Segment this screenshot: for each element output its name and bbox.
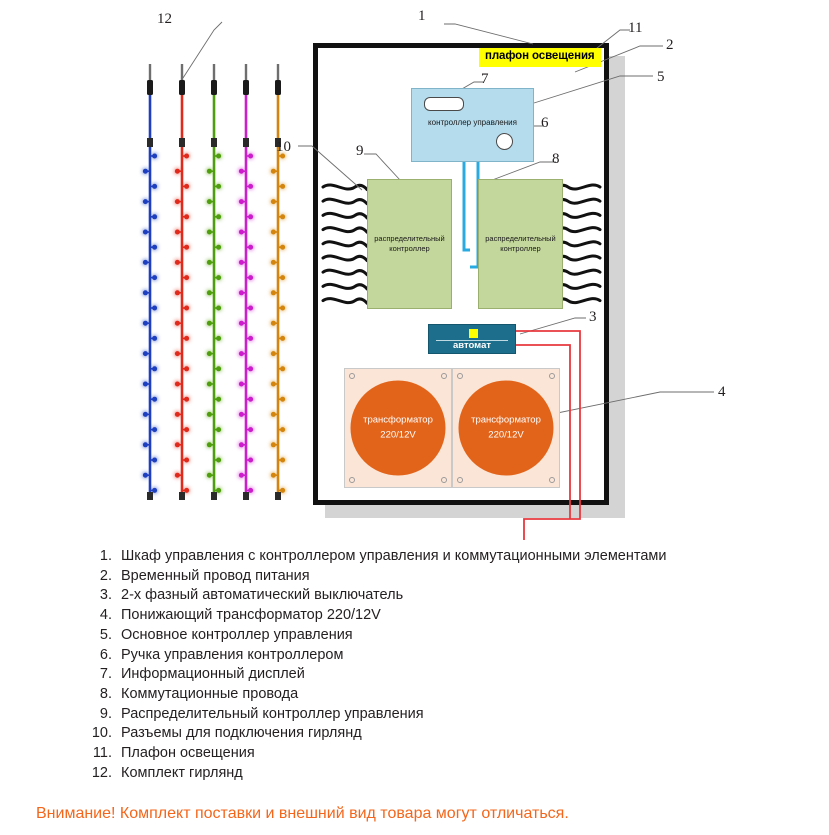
legend-item-text: Распределительный контроллер управления (121, 707, 424, 722)
callout-5: 5 (657, 70, 665, 85)
callout-7: 7 (481, 72, 489, 87)
wiring-diagram: плафон освещения контроллер управления р… (0, 0, 829, 540)
legend-item-number: 5. (82, 628, 121, 643)
garland-socket-connector (323, 299, 367, 304)
legend-item-number: 4. (82, 608, 121, 623)
callout-leader-9 (364, 154, 400, 180)
callout-11: 11 (628, 21, 642, 36)
callout-12: 12 (157, 12, 172, 27)
callout-leader-1 (444, 24, 533, 44)
legend-item: 1.Шкаф управления с контроллером управле… (82, 549, 782, 564)
legend-item-number: 7. (82, 667, 121, 682)
legend-item-text: 2-х фазный автоматический выключатель (121, 588, 403, 603)
callout-1: 1 (418, 9, 426, 24)
legend-item-number: 6. (82, 648, 121, 663)
info-display (424, 97, 464, 111)
signal-cables (464, 162, 478, 267)
breaker-indicator-icon (469, 329, 478, 338)
legend-item: 6.Ручка управления контроллером (82, 648, 782, 663)
legend-item: 4.Понижающий трансформатор 220/12V (82, 608, 782, 623)
legend-item: 7.Информационный дисплей (82, 667, 782, 682)
legend-item-text: Комплект гирлянд (121, 766, 243, 781)
distribution-controller-left-label: распределительный контроллер (374, 234, 444, 254)
lighting-plafond-label: плафон освещения (479, 48, 601, 67)
garland-socket-connector (323, 228, 367, 233)
screw-icon (441, 477, 447, 483)
screw-icon (549, 373, 555, 379)
transformer-right: трансформатор 220/12V (459, 381, 554, 476)
transformer-left-line1: трансформатор (363, 414, 433, 428)
legend-item-number: 3. (82, 588, 121, 603)
dist-right-line2: контроллер (500, 244, 540, 253)
callout-9: 9 (356, 144, 364, 159)
legend-item-text: Временный провод питания (121, 569, 310, 584)
legend-item-text: Шкаф управления с контроллером управлени… (121, 549, 666, 564)
legend-item-text: Плафон освещения (121, 746, 255, 761)
transformer-left-line2: 220/12V (380, 428, 415, 442)
garland-socket-connector (323, 270, 367, 275)
legend-item: 11.Плафон освещения (82, 746, 782, 761)
legend-item: 3.2-х фазный автоматический выключатель (82, 588, 782, 603)
legend-item: 12.Комплект гирлянд (82, 766, 782, 781)
transformer-right-line2: 220/12V (488, 428, 523, 442)
legend-item: 8.Коммутационные провода (82, 687, 782, 702)
legend-item-number: 1. (82, 549, 121, 564)
screw-icon (457, 477, 463, 483)
transformer-left: трансформатор 220/12V (351, 381, 446, 476)
screw-icon (549, 477, 555, 483)
legend-item: 5.Основное контроллер управления (82, 628, 782, 643)
legend-item-text: Информационный дисплей (121, 667, 305, 682)
legend-item-text: Понижающий трансформатор 220/12V (121, 608, 381, 623)
distribution-controller-left[interactable]: распределительный контроллер (367, 179, 452, 309)
distribution-controller-right[interactable]: распределительный контроллер (478, 179, 563, 309)
legend-item-number: 12. (82, 766, 121, 781)
distribution-controller-right-label: распределительный контроллер (485, 234, 555, 254)
legend-item-number: 10. (82, 726, 121, 741)
callout-2: 2 (666, 38, 674, 53)
screw-icon (349, 477, 355, 483)
callout-leader-5 (534, 76, 653, 103)
callout-leader-12 (183, 22, 222, 78)
legend-item-number: 9. (82, 707, 121, 722)
legend-item-text: Ручка управления контроллером (121, 648, 343, 663)
dist-left-line1: распределительный (374, 234, 444, 243)
legend-item-text: Разъемы для подключения гирлянд (121, 726, 362, 741)
legend-item: 2.Временный провод питания (82, 569, 782, 584)
legend-item: 9.Распределительный контроллер управлени… (82, 707, 782, 722)
garland-socket-connector (323, 199, 367, 204)
callout-leader-10 (298, 146, 362, 190)
callout-4: 4 (718, 385, 726, 400)
garland-socket-connector (323, 242, 367, 247)
garland-socket-connector (323, 213, 367, 218)
legend-list: 1.Шкаф управления с контроллером управле… (82, 549, 782, 786)
screw-icon (457, 373, 463, 379)
legend-item-number: 2. (82, 569, 121, 584)
callout-6: 6 (541, 116, 549, 131)
callout-10: 10 (276, 140, 291, 155)
dist-right-line1: распределительный (485, 234, 555, 243)
callout-8: 8 (552, 152, 560, 167)
dist-left-line2: контроллер (389, 244, 429, 253)
garland-socket-connector (323, 284, 367, 289)
circuit-breaker[interactable]: автомат (428, 324, 516, 354)
screw-icon (441, 373, 447, 379)
control-knob[interactable] (496, 133, 513, 150)
legend-item-number: 8. (82, 687, 121, 702)
main-controller[interactable]: контроллер управления (411, 88, 534, 162)
legend-item-text: Коммутационные провода (121, 687, 298, 702)
garland-socket-connector (323, 256, 367, 261)
transformer-panel-left: трансформатор 220/12V (344, 368, 452, 488)
transformer-right-line1: трансформатор (471, 414, 541, 428)
legend-item-text: Основное контроллер управления (121, 628, 353, 643)
legend-item-number: 11. (82, 746, 121, 761)
main-controller-label: контроллер управления (412, 119, 533, 127)
screw-icon (349, 373, 355, 379)
callout-3: 3 (589, 310, 597, 325)
legend-item: 10.Разъемы для подключения гирлянд (82, 726, 782, 741)
warning-text: Внимание! Комплект поставки и внешний ви… (36, 806, 569, 822)
breaker-label: автомат (429, 341, 515, 351)
transformer-panel-right: трансформатор 220/12V (452, 368, 560, 488)
